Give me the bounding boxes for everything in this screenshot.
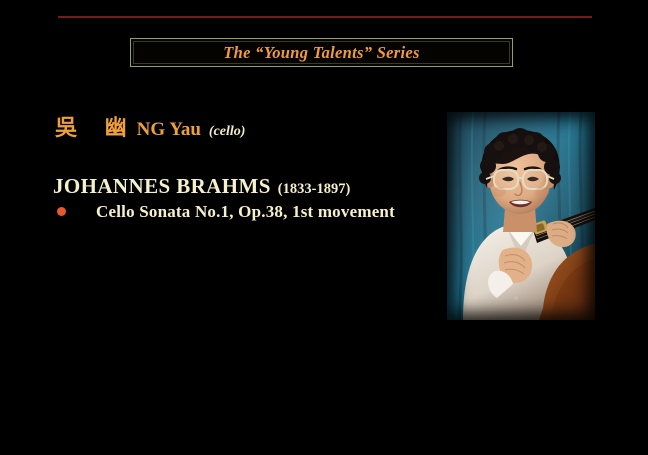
work-title: Cello Sonata No.1, Op.38, 1st movement <box>96 203 395 220</box>
top-divider-rule <box>58 16 592 18</box>
performer-latin-name: NG Yau <box>137 120 201 139</box>
portrait-illustration <box>447 112 595 320</box>
performer-name-line: 吳 幽 NG Yau (cello) <box>55 118 245 140</box>
composer-name: JOHANNES BRAHMS <box>53 176 271 197</box>
series-title-text: The “Young Talents” Series <box>223 43 420 63</box>
bullet-dot-icon <box>57 207 66 216</box>
series-title-box: The “Young Talents” Series <box>130 38 513 67</box>
performer-instrument: (cello) <box>209 125 246 139</box>
performer-chinese-name: 吳 幽 <box>55 118 137 140</box>
work-list-item: Cello Sonata No.1, Op.38, 1st movement <box>57 203 395 220</box>
composer-dates: (1833-1897) <box>278 182 351 197</box>
composer-line: JOHANNES BRAHMS (1833-1897) <box>53 176 350 197</box>
performer-portrait-photo <box>447 112 595 320</box>
